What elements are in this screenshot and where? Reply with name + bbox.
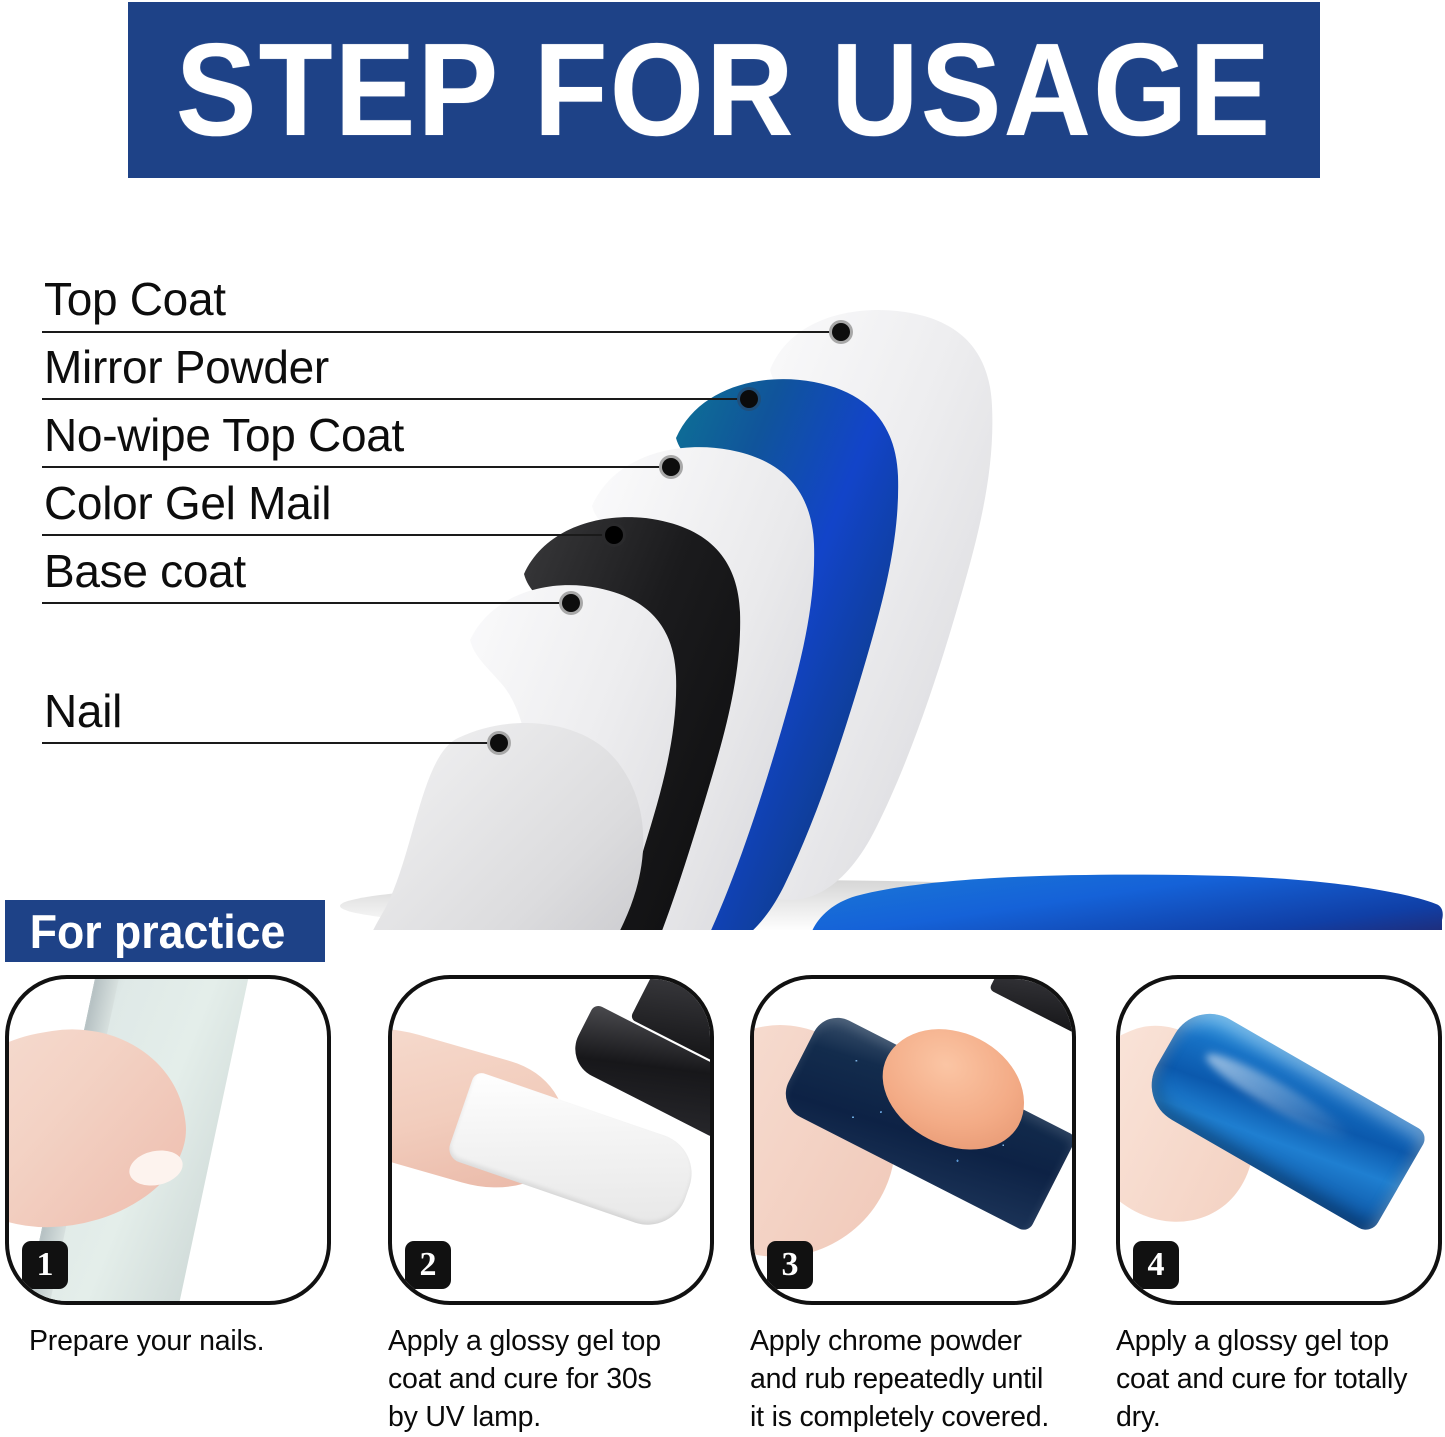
applicator-handle-icon — [989, 975, 1076, 1049]
leader-dot-base-coat — [556, 588, 586, 618]
leader-line-top-coat — [42, 331, 838, 333]
layer-label-base-coat: Base coat — [44, 548, 246, 594]
step-1-badge: 1 — [22, 1241, 68, 1289]
practice-step-3: 3 Apply chrome powder and rub repeatedly… — [750, 975, 1068, 1437]
leader-line-nail — [42, 742, 496, 744]
leader-dot-top-coat — [826, 317, 856, 347]
page-title-banner: STEP FOR USAGE — [128, 2, 1320, 178]
step-1-caption: Prepare your nails. — [29, 1323, 329, 1361]
page-title: STEP FOR USAGE — [176, 24, 1272, 156]
leader-line-no-wipe-top-coat — [42, 466, 668, 468]
leader-dot-color-gel-mail — [599, 520, 629, 550]
nail-layer-diagram: Top Coat Mirror Powder No-wipe Top Coat … — [0, 200, 1445, 930]
step-4-badge: 4 — [1133, 1241, 1179, 1289]
step-2-photo[interactable]: 2 — [388, 975, 714, 1305]
layer-label-top-coat: Top Coat — [44, 276, 226, 322]
practice-step-4: 4 Apply a glossy gel top coat and cure f… — [1116, 975, 1434, 1437]
step-4-photo[interactable]: 4 — [1116, 975, 1442, 1305]
layer-label-color-gel-mail: Color Gel Mail — [44, 480, 331, 526]
step-1-photo[interactable]: 1 — [5, 975, 331, 1305]
step-3-caption: Apply chrome powder and rub repeatedly u… — [750, 1323, 1050, 1437]
leader-dot-no-wipe-top-coat — [656, 452, 686, 482]
step-2-caption: Apply a glossy gel top coat and cure for… — [388, 1323, 688, 1437]
leader-line-mirror-powder — [42, 398, 746, 400]
leader-line-color-gel-mail — [42, 534, 611, 536]
step-3-badge: 3 — [767, 1241, 813, 1289]
practice-step-1: 1 Prepare your nails. — [5, 975, 323, 1361]
step-3-photo[interactable]: 3 — [750, 975, 1076, 1305]
step-4-caption: Apply a glossy gel top coat and cure for… — [1116, 1323, 1416, 1437]
leader-line-base-coat — [42, 602, 568, 604]
leader-dot-nail — [484, 728, 514, 758]
layer-label-mirror-powder: Mirror Powder — [44, 344, 329, 390]
for-practice-banner: For practice — [5, 900, 325, 962]
practice-step-2: 2 Apply a glossy gel top coat and cure f… — [388, 975, 706, 1437]
leader-dot-mirror-powder — [734, 384, 764, 414]
layer-label-no-wipe-top-coat: No-wipe Top Coat — [44, 412, 404, 458]
for-practice-title: For practice — [5, 908, 285, 955]
step-2-badge: 2 — [405, 1241, 451, 1289]
layer-label-nail: Nail — [44, 688, 122, 734]
